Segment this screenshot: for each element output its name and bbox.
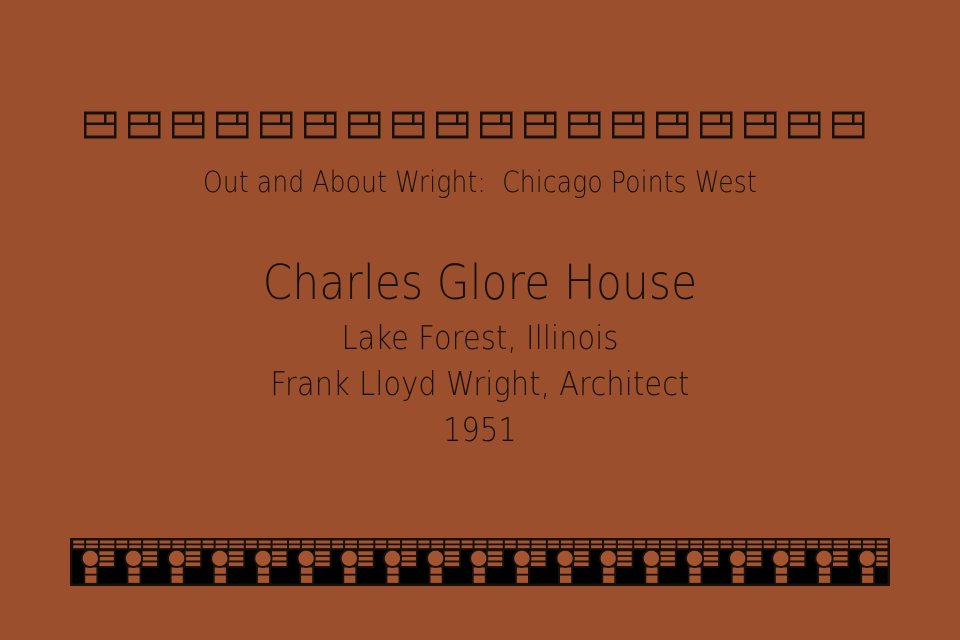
- art-deco-rule-icon: [84, 110, 876, 140]
- frieze-side-bricks: [746, 550, 762, 567]
- frieze-side-bricks: [616, 550, 632, 567]
- rule-unit-frame: [833, 113, 863, 137]
- page-title: Charles Glore House: [58, 252, 903, 314]
- frieze-side-bricks: [185, 550, 201, 567]
- rule-unit-frame: [85, 113, 115, 137]
- frieze-disc: [82, 550, 99, 567]
- frieze-side-bricks: [487, 550, 503, 567]
- rule-unit-frame: [525, 113, 555, 137]
- frieze-disc: [254, 550, 271, 567]
- rule-unit-frame: [261, 113, 291, 137]
- title-text-block: Out and About Wright: Chicago Points Wes…: [0, 162, 960, 452]
- frieze-disc: [470, 550, 487, 567]
- frieze-disc: [384, 550, 401, 567]
- rule-unit-frame: [173, 113, 203, 137]
- rule-unit-frame: [701, 113, 731, 137]
- frieze-side-bricks: [271, 550, 287, 567]
- frieze-side-bricks: [228, 550, 244, 567]
- frieze-side-bricks: [832, 550, 848, 567]
- slide-canvas: Out and About Wright: Chicago Points Wes…: [0, 0, 960, 640]
- frieze-disc: [600, 550, 617, 567]
- frieze-side-bricks: [659, 550, 675, 567]
- frieze-side-bricks: [703, 550, 719, 567]
- rule-unit-frame: [129, 113, 159, 137]
- frieze-disc: [513, 550, 530, 567]
- rule-unit-frame: [745, 113, 775, 137]
- frieze-disc: [772, 550, 789, 567]
- frieze-side-bricks: [401, 550, 417, 567]
- rule-unit-frame: [789, 113, 819, 137]
- frieze-disc: [815, 550, 832, 567]
- frieze-side-bricks: [314, 550, 330, 567]
- frieze-disc: [686, 550, 703, 567]
- frieze-disc: [643, 550, 660, 567]
- frieze-side-bricks: [142, 550, 158, 567]
- frieze-side-bricks: [530, 550, 546, 567]
- frieze-side-bricks: [357, 550, 373, 567]
- frieze-disc: [125, 550, 142, 567]
- rule-unit-frame: [393, 113, 423, 137]
- series-title: Out and About Wright: Chicago Points Wes…: [67, 162, 893, 202]
- rule-unit-frame: [349, 113, 379, 137]
- frieze-disc: [298, 550, 315, 567]
- frieze-disc: [427, 550, 444, 567]
- frieze-side-bricks: [98, 550, 114, 567]
- art-deco-frieze-icon: [70, 538, 890, 586]
- frieze-disc: [729, 550, 746, 567]
- rule-unit-frame: [613, 113, 643, 137]
- bottom-ornament-frieze: [70, 538, 890, 586]
- rule-unit-frame: [437, 113, 467, 137]
- rule-unit-frame: [217, 113, 247, 137]
- rule-unit-frame: [305, 113, 335, 137]
- top-ornament-rule: [84, 110, 876, 140]
- frieze-side-bricks: [789, 550, 805, 567]
- frieze-disc: [859, 550, 876, 567]
- frieze-disc: [211, 550, 228, 567]
- location-subtitle: Lake Forest, Illinois: [62, 316, 897, 360]
- frieze-disc: [168, 550, 185, 567]
- architect-subtitle: Frank Lloyd Wright, Architect: [62, 362, 897, 406]
- frieze-disc: [341, 550, 358, 567]
- rule-unit-frame: [657, 113, 687, 137]
- year-subtitle: 1951: [62, 408, 897, 452]
- rule-unit-frame: [569, 113, 599, 137]
- frieze-side-bricks: [444, 550, 460, 567]
- rule-unit-frame: [481, 113, 511, 137]
- frieze-disc: [556, 550, 573, 567]
- frieze-side-bricks: [573, 550, 589, 567]
